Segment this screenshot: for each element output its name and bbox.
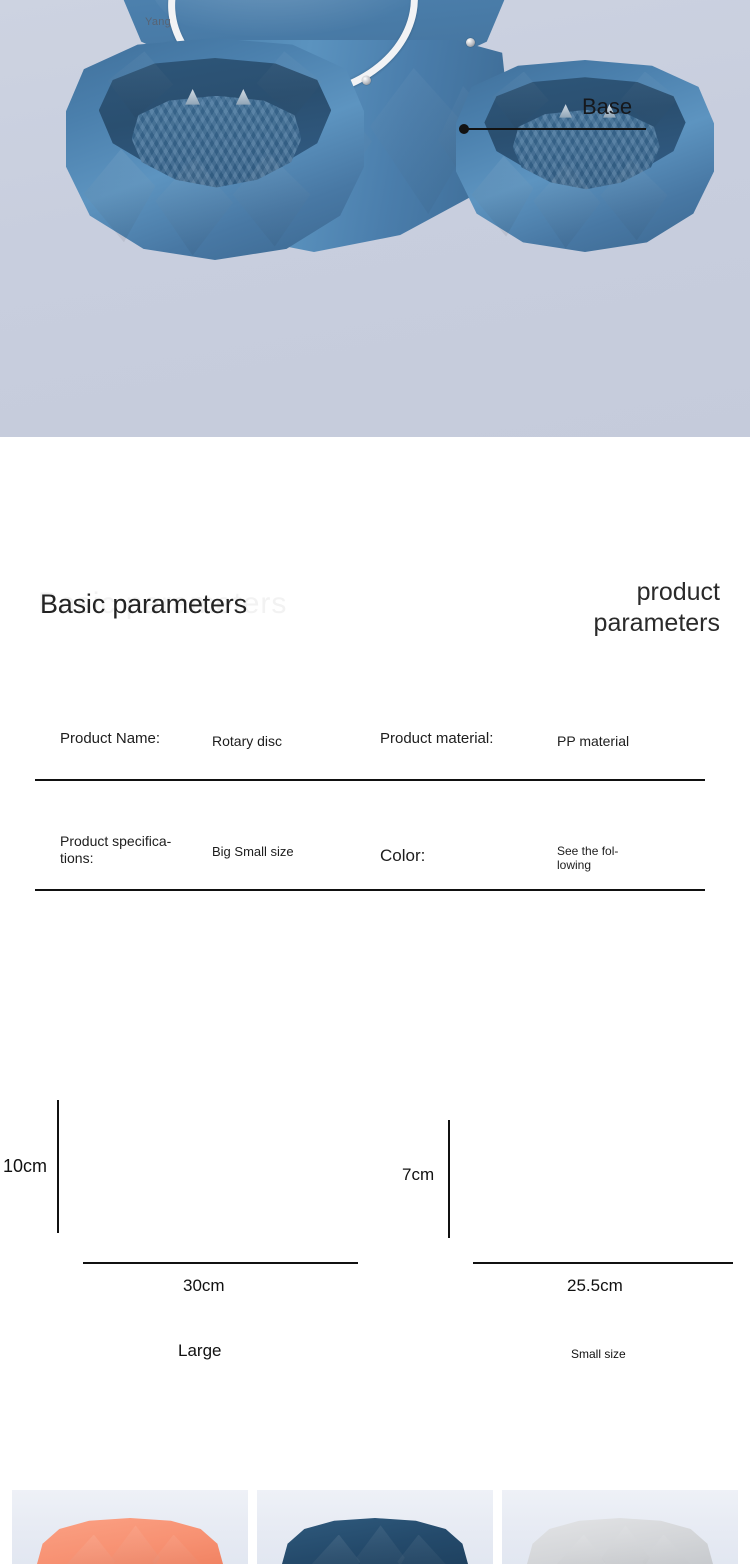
variant-product-shape <box>37 1518 223 1564</box>
image-watermark: Yang <box>145 16 171 28</box>
color-variant-thumbnail-navy[interactable] <box>257 1490 493 1564</box>
variant-facet <box>557 1535 605 1564</box>
handle-rivet <box>466 38 475 47</box>
spec-value-product-material: PP material <box>557 733 629 749</box>
spec-value-product-name: Rotary disc <box>212 733 282 749</box>
section-heading-right: product parameters <box>594 577 720 638</box>
spec-row: Product specifica-tions: Big Small size … <box>0 838 750 890</box>
spec-value-color: See the fol-lowing <box>557 844 677 873</box>
product-detail-page: Yang Base Basic parameters Basic paramet… <box>0 0 750 1564</box>
dimension-line-width-large <box>83 1262 358 1264</box>
base-callout-line <box>466 128 646 130</box>
spec-label-color: Color: <box>380 846 425 866</box>
dimension-line-height-large <box>57 1100 59 1233</box>
bowl-large-render <box>66 38 364 260</box>
dimension-line-height-small <box>448 1120 450 1238</box>
spec-row-divider <box>35 889 705 891</box>
bowl-small-render <box>456 60 714 252</box>
variant-product-shape <box>282 1518 468 1564</box>
variant-facet <box>111 1525 159 1564</box>
spec-label-product-specifications: Product specifica-tions: <box>60 833 200 867</box>
variant-facet <box>642 1535 690 1564</box>
size-name-large: Large <box>178 1341 221 1361</box>
variant-facet <box>397 1535 445 1564</box>
size-comparison-section <box>0 1000 750 1400</box>
bowl-image-large <box>66 38 364 260</box>
bowl-image-small <box>456 60 714 252</box>
dimension-line-width-small <box>473 1262 733 1264</box>
spec-row: Product Name: Rotary disc Product materi… <box>0 730 750 780</box>
variant-facet <box>152 1535 200 1564</box>
base-callout-label: Base <box>582 94 632 120</box>
heading-right-line-2: parameters <box>594 608 720 639</box>
dimension-label-width-small: 25.5cm <box>567 1276 623 1296</box>
dimension-label-height-large: 10cm <box>3 1156 47 1177</box>
spec-row-divider <box>35 779 705 781</box>
variant-facet <box>601 1525 649 1564</box>
color-variant-strip <box>0 1490 750 1564</box>
spec-label-product-name: Product Name: <box>60 730 160 747</box>
variant-facet <box>312 1535 360 1564</box>
spec-value-product-specifications: Big Small size <box>212 844 294 859</box>
size-name-small: Small size <box>571 1347 626 1361</box>
variant-facet <box>356 1525 404 1564</box>
variant-facet <box>67 1535 115 1564</box>
variant-product-shape <box>527 1518 713 1564</box>
section-heading: Basic parameters <box>40 589 247 620</box>
dimension-label-height-small: 7cm <box>402 1165 434 1185</box>
color-variant-thumbnail-gray[interactable] <box>502 1490 738 1564</box>
spec-label-product-material: Product material: <box>380 730 493 747</box>
color-variant-thumbnail-orange[interactable] <box>12 1490 248 1564</box>
heading-right-line-1: product <box>594 577 720 608</box>
dimension-label-width-large: 30cm <box>183 1276 225 1296</box>
